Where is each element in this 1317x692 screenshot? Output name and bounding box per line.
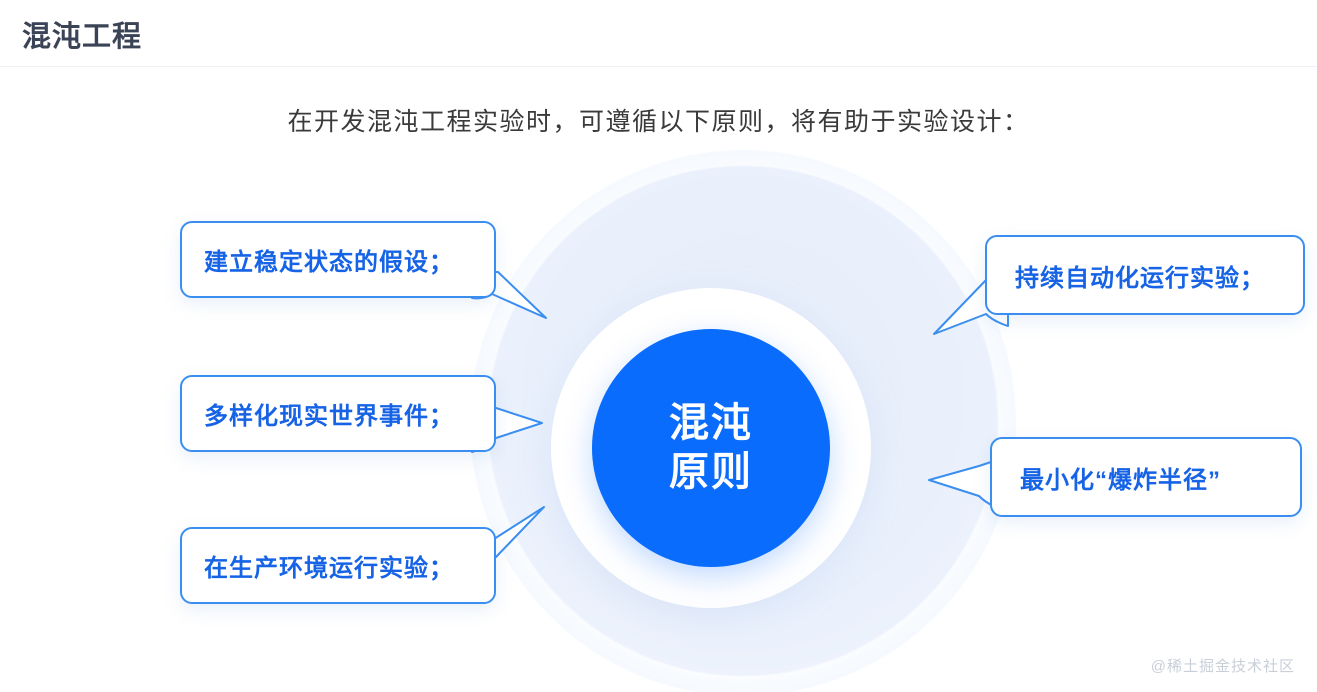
principle-bubble-left-2[interactable]: 多样化现实世界事件； — [180, 375, 496, 452]
page-title: 混沌工程 — [22, 13, 142, 55]
principle-bubble-right-1[interactable]: 持续自动化运行实验； — [985, 235, 1305, 315]
principle-bubble-right-2-label: 最小化“爆炸半径” — [992, 460, 1221, 495]
principle-bubble-left-1[interactable]: 建立稳定状态的假设； — [180, 221, 496, 298]
principle-bubble-left-3-label: 在生产环境运行实验； — [182, 548, 454, 583]
principle-bubble-left-2-label: 多样化现实世界事件； — [182, 396, 454, 431]
principle-bubble-right-2[interactable]: 最小化“爆炸半径” — [990, 437, 1302, 517]
principle-bubble-left-1-label: 建立稳定状态的假设； — [182, 242, 454, 277]
watermark-text: @稀土掘金技术社区 — [1151, 655, 1295, 676]
header-divider — [0, 66, 1317, 67]
slide-canvas: 混沌工程 在开发混沌工程实验时，可遵循以下原则，将有助于实验设计： 混沌 原则 … — [0, 0, 1317, 692]
center-circle-label: 混沌 原则 — [669, 399, 753, 497]
principle-bubble-right-1-label: 持续自动化运行实验； — [987, 258, 1265, 293]
principle-bubble-left-3[interactable]: 在生产环境运行实验； — [180, 527, 496, 604]
center-circle: 混沌 原则 — [592, 329, 830, 567]
subtitle-text: 在开发混沌工程实验时，可遵循以下原则，将有助于实验设计： — [0, 102, 1317, 138]
